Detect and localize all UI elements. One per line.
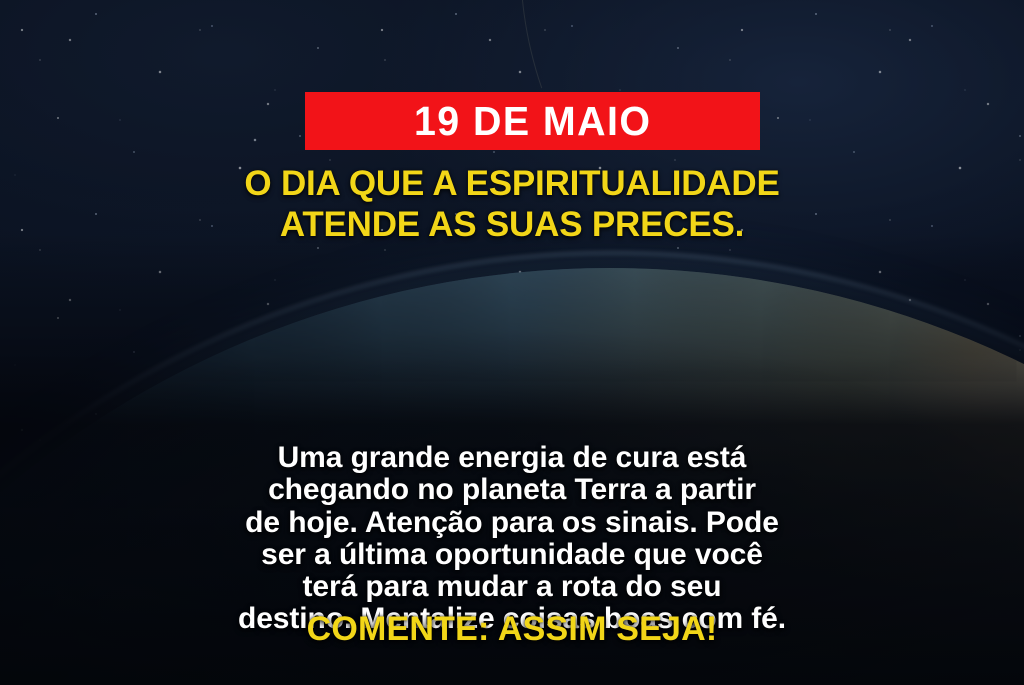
body-line-2: chegando no planeta Terra a partir bbox=[0, 474, 1024, 506]
headline-line-2: ATENDE AS SUAS PRECES. bbox=[0, 205, 1024, 246]
headline: O DIA QUE A ESPIRITUALIDADE ATENDE AS SU… bbox=[0, 164, 1024, 245]
body-line-4: ser a última oportunidade que você bbox=[0, 539, 1024, 571]
poster-canvas: 19 DE MAIO O DIA QUE A ESPIRITUALIDADE A… bbox=[0, 0, 1024, 685]
body-copy: Uma grande energia de cura está chegando… bbox=[0, 442, 1024, 636]
body-line-5: terá para mudar a rota do seu bbox=[0, 571, 1024, 603]
date-banner: 19 DE MAIO bbox=[305, 92, 760, 150]
call-to-action-label: COMENTE: ASSIM SEJA! bbox=[307, 610, 718, 648]
poster-content: 19 DE MAIO O DIA QUE A ESPIRITUALIDADE A… bbox=[0, 0, 1024, 685]
body-line-1: Uma grande energia de cura está bbox=[0, 442, 1024, 474]
date-banner-label: 19 DE MAIO bbox=[414, 101, 651, 142]
call-to-action: COMENTE: ASSIM SEJA! bbox=[0, 612, 1024, 646]
body-line-3: de hoje. Atenção para os sinais. Pode bbox=[0, 507, 1024, 539]
headline-line-1: O DIA QUE A ESPIRITUALIDADE bbox=[0, 164, 1024, 205]
